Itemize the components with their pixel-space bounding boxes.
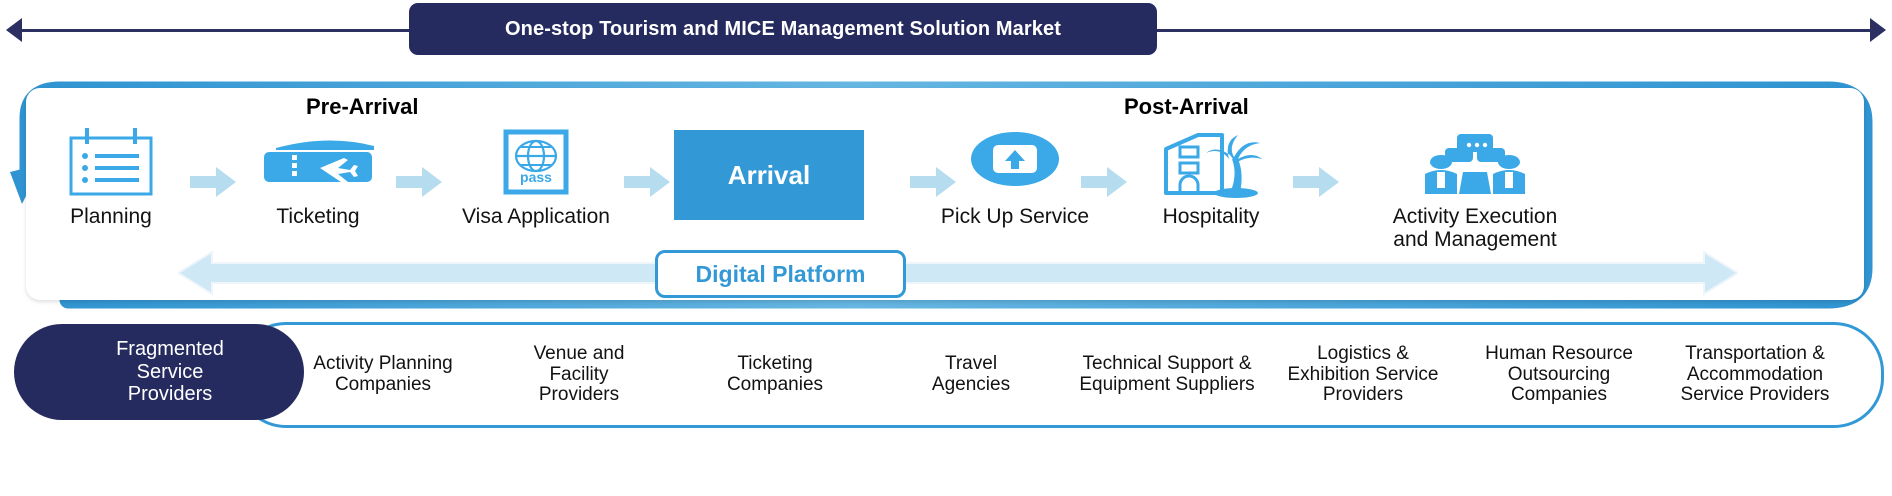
digital-platform-label: Digital Platform (696, 261, 866, 288)
flow-arrow-icon (1293, 167, 1339, 197)
phase-label-post-arrival: Post-Arrival (1124, 94, 1249, 120)
plane-ticket-icon (223, 124, 413, 200)
journey-step-label: Ticketing (223, 206, 413, 229)
journey-step-visa[interactable]: pass Visa Application (441, 124, 631, 229)
providers-capsule: Activity Planning Companies Venue and Fa… (236, 322, 1884, 428)
flow-arrow-icon (624, 167, 670, 197)
journey-step-label: Hospitality (1116, 206, 1306, 229)
journey-step-label: Pick Up Service (920, 206, 1110, 229)
provider-item[interactable]: Human Resource Outsourcing Companies (1461, 344, 1657, 407)
arrival-label: Arrival (728, 160, 810, 191)
digital-platform-band: Digital Platform (178, 250, 1738, 296)
journey-step-planning[interactable]: Planning (16, 124, 206, 229)
meeting-people-icon (1350, 124, 1600, 200)
journey-step-label: Activity Execution and Management (1350, 206, 1600, 251)
provider-item[interactable]: Ticketing Companies (677, 354, 873, 396)
flow-arrow-icon (396, 167, 442, 197)
provider-item[interactable]: Activity Planning Companies (285, 354, 481, 396)
provider-item[interactable]: Technical Support & Equipment Suppliers (1069, 354, 1265, 396)
provider-item[interactable]: Venue and Facility Providers (481, 344, 677, 407)
customer-journey-panel: Pre-Arrival Post-Arrival Planning (8, 72, 1884, 315)
market-title-box: One-stop Tourism and MICE Management Sol… (409, 3, 1157, 55)
passport-globe-icon: pass (441, 124, 631, 200)
hotel-palm-icon (1116, 124, 1306, 200)
arrow-right-icon (1870, 18, 1886, 42)
providers-list: Activity Planning Companies Venue and Fa… (239, 344, 1881, 407)
market-header-bar: One-stop Tourism and MICE Management Sol… (0, 0, 1892, 62)
journey-step-label: Visa Application (441, 206, 631, 229)
service-providers-row: Fragmented Service Providers Activity Pl… (14, 322, 1880, 488)
fragmented-service-providers-label: Fragmented Service Providers (94, 338, 224, 405)
digital-platform-badge[interactable]: Digital Platform (655, 250, 906, 298)
double-arrow-icon (178, 250, 1738, 296)
arrow-left-icon (6, 18, 22, 42)
passport-icon-text: pass (520, 169, 552, 185)
journey-step-ticketing[interactable]: Ticketing (223, 124, 413, 229)
market-title-text: One-stop Tourism and MICE Management Sol… (505, 18, 1061, 41)
calendar-planning-icon (16, 124, 206, 200)
phase-label-pre-arrival: Pre-Arrival (306, 94, 419, 120)
journey-step-arrival[interactable]: Arrival (674, 130, 864, 220)
journey-step-hospitality[interactable]: Hospitality (1116, 124, 1306, 229)
fragmented-service-providers-box: Fragmented Service Providers (14, 324, 304, 420)
provider-item[interactable]: Travel Agencies (873, 354, 1069, 396)
provider-item[interactable]: Logistics & Exhibition Service Providers (1265, 344, 1461, 407)
provider-item[interactable]: Transportation & Accommodation Service P… (1657, 344, 1853, 407)
journey-step-label: Planning (16, 206, 206, 229)
journey-step-activity[interactable]: Activity Execution and Management (1350, 124, 1600, 251)
